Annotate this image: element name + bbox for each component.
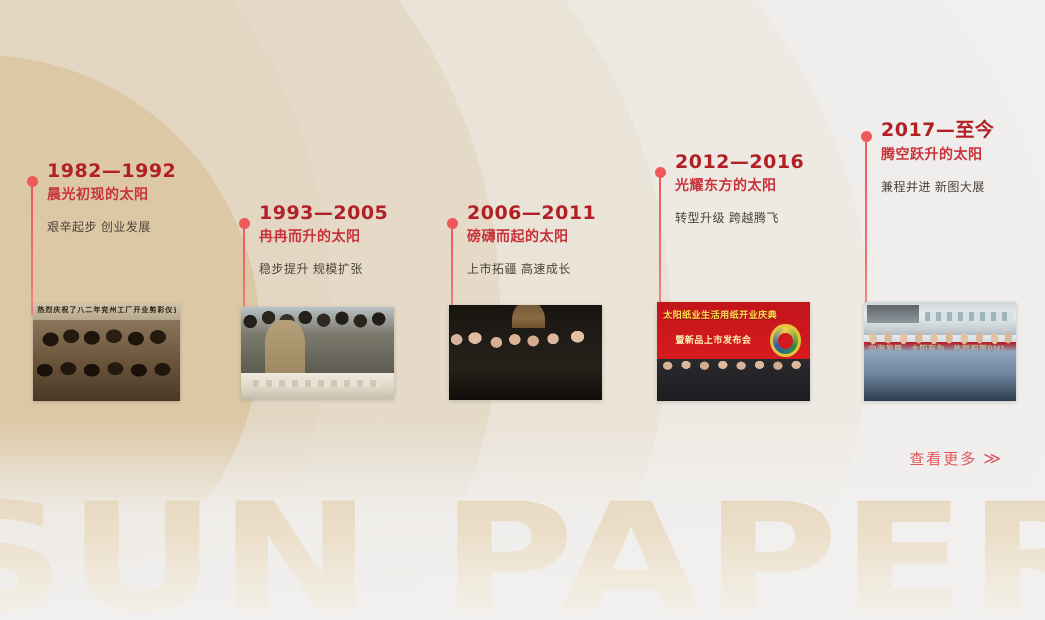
timeline-node-1-subtitle: 晨光初现的太阳 [47, 184, 176, 204]
photo-model-table [241, 373, 394, 399]
timeline-photo-2[interactable] [241, 307, 394, 399]
timeline-node-1-caption: 艰辛起步 创业发展 [47, 218, 176, 235]
timeline-photo-1-image: 热烈庆祝了八二年兖州工厂开业剪彩仪式 [33, 304, 180, 401]
timeline-photo-3[interactable] [449, 305, 602, 400]
timeline-node-4-years: 2012—2016 [675, 151, 804, 173]
timeline-node-3-caption: 上市拓疆 高速成长 [467, 260, 596, 277]
timeline-node-1-years: 1982—1992 [47, 160, 176, 182]
timeline-node-4-caption: 转型升级 跨越腾飞 [675, 209, 804, 226]
view-more-button[interactable]: 查看更多 ≫ [909, 448, 1003, 469]
photo-crowd [449, 328, 602, 400]
timeline-node-3-subtitle: 磅礴而起的太阳 [467, 226, 596, 246]
timeline-node-5-text: 2017—至今 腾空跃升的太阳 兼程并进 新图大展 [881, 115, 994, 195]
photo-emblem-icon [770, 324, 801, 358]
timeline-node-2-text: 1993—2005 冉冉而升的太阳 稳步提升 规模扩张 [259, 202, 388, 277]
timeline-node-5-years: 2017—至今 [881, 115, 994, 142]
timeline-stem [31, 185, 33, 315]
timeline-node-1-text: 1982—1992 晨光初现的太阳 艰辛起步 创业发展 [47, 160, 176, 235]
timeline-stem [865, 140, 867, 312]
timeline-node-5-caption: 兼程并进 新图大展 [881, 178, 994, 195]
view-more-label: 查看更多 [909, 448, 977, 469]
photo-crowd [657, 359, 810, 401]
timeline-photo-2-image [241, 307, 394, 399]
timeline-photo-3-image [449, 305, 602, 400]
timeline-photo-4-image: 太阳纸业生活用纸开业庆典 暨新品上市发布会 [657, 302, 810, 401]
timeline-node-2-caption: 稳步提升 规模扩张 [259, 260, 388, 277]
timeline-photo-5-image: 向海发展，太阳有为，热烈祝贺PM1 [864, 302, 1016, 401]
timeline-node-3-years: 2006—2011 [467, 202, 596, 224]
timeline-node-3-text: 2006—2011 磅礴而起的太阳 上市拓疆 高速成长 [467, 202, 596, 277]
timeline-photo-5[interactable]: 向海发展，太阳有为，热烈祝贺PM1 [864, 302, 1016, 401]
timeline-stem [243, 227, 245, 317]
timeline-photo-4-banner-text: 太阳纸业生活用纸开业庆典 [663, 308, 804, 321]
timeline-node-2-subtitle: 冉冉而升的太阳 [259, 226, 388, 246]
timeline-stem [451, 227, 453, 314]
timeline-node-2-years: 1993—2005 [259, 202, 388, 224]
timeline-stem [659, 176, 661, 312]
chevron-right-icon: ≫ [983, 450, 1003, 467]
photo-crowd [241, 307, 394, 373]
photo-crowd [33, 320, 180, 401]
timeline-node-4-subtitle: 光耀东方的太阳 [675, 175, 804, 195]
timeline-node-5-subtitle: 腾空跃升的太阳 [881, 144, 994, 164]
timeline-node-4-text: 2012—2016 光耀东方的太阳 转型升级 跨越腾飞 [675, 151, 804, 226]
timeline-photo-4[interactable]: 太阳纸业生活用纸开业庆典 暨新品上市发布会 [657, 302, 810, 401]
photo-figure [265, 320, 305, 377]
photo-crowd [864, 330, 1016, 401]
history-timeline-page: SUN PAPER 1982—1992 晨光初现的太阳 艰辛起步 创业发展 19… [0, 0, 1045, 620]
timeline-photo-1-banner-text: 热烈庆祝了八二年兖州工厂开业剪彩仪式 [37, 305, 175, 320]
timeline-photo-1[interactable]: 热烈庆祝了八二年兖州工厂开业剪彩仪式 [33, 304, 180, 401]
